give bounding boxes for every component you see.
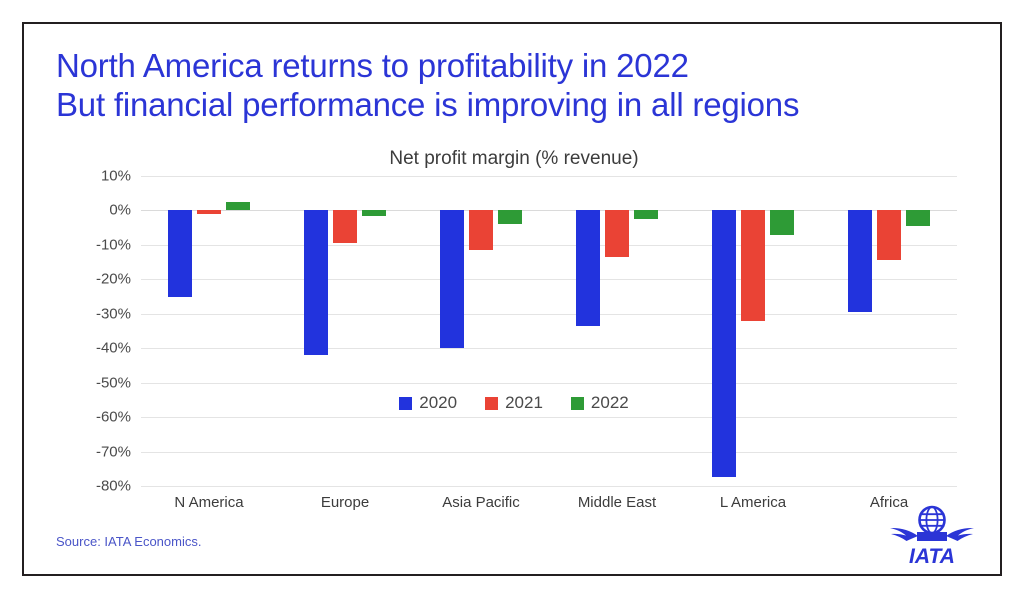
plot-canvas bbox=[141, 176, 957, 486]
bar-2021-asia-pacific[interactable] bbox=[469, 210, 493, 250]
slide-canvas: North America returns to profitability i… bbox=[0, 0, 1024, 598]
y-axis-tick-label: -20% bbox=[96, 271, 131, 288]
x-axis: N AmericaEuropeAsia PacificMiddle EastL … bbox=[141, 494, 957, 511]
y-axis-tick-label: 0% bbox=[109, 202, 131, 219]
legend-label: 2021 bbox=[505, 393, 543, 413]
bar-2022-n-america[interactable] bbox=[226, 202, 250, 211]
bar-2020-europe[interactable] bbox=[304, 210, 328, 355]
iata-wordmark: IATA bbox=[909, 545, 955, 568]
bar-2020-africa[interactable] bbox=[848, 210, 872, 312]
legend-swatch-icon bbox=[485, 397, 498, 410]
bar-2021-africa[interactable] bbox=[877, 210, 901, 260]
y-axis-tick-label: -30% bbox=[96, 305, 131, 322]
bar-2020-n-america[interactable] bbox=[168, 210, 192, 296]
chart-legend: 202020212022 bbox=[24, 393, 1004, 413]
bar-group bbox=[413, 176, 549, 486]
x-axis-label: Asia Pacific bbox=[413, 494, 549, 511]
bar-2020-asia-pacific[interactable] bbox=[440, 210, 464, 348]
x-axis-label: Middle East bbox=[549, 494, 685, 511]
y-axis-tick-label: 10% bbox=[101, 168, 131, 185]
legend-swatch-icon bbox=[399, 397, 412, 410]
bar-group bbox=[277, 176, 413, 486]
bar-group bbox=[685, 176, 821, 486]
slide-frame: North America returns to profitability i… bbox=[22, 22, 1002, 576]
legend-item-2020[interactable]: 2020 bbox=[399, 393, 457, 413]
y-axis-tick-label: -70% bbox=[96, 443, 131, 460]
legend-item-2022[interactable]: 2022 bbox=[571, 393, 629, 413]
slide-title-line-2: But financial performance is improving i… bbox=[56, 85, 976, 124]
y-axis-tick-label: -10% bbox=[96, 236, 131, 253]
bar-group bbox=[821, 176, 957, 486]
source-note: Source: IATA Economics. bbox=[56, 534, 201, 549]
bar-2021-europe[interactable] bbox=[333, 210, 357, 243]
legend-swatch-icon bbox=[571, 397, 584, 410]
y-axis-tick-label: -40% bbox=[96, 340, 131, 357]
bar-2021-l-america[interactable] bbox=[741, 210, 765, 320]
bar-group bbox=[141, 176, 277, 486]
legend-item-2021[interactable]: 2021 bbox=[485, 393, 543, 413]
iata-logo: IATA bbox=[884, 502, 980, 568]
bar-group bbox=[549, 176, 685, 486]
slide-title-line-1: North America returns to profitability i… bbox=[56, 46, 976, 85]
y-axis: 10%0%-10%-20%-30%-40%-50%-60%-70%-80% bbox=[79, 176, 137, 486]
y-axis-tick-label: -50% bbox=[96, 374, 131, 391]
x-axis-label: L America bbox=[685, 494, 821, 511]
chart-title: Net profit margin (% revenue) bbox=[24, 148, 1004, 170]
bar-2022-africa[interactable] bbox=[906, 210, 930, 226]
legend-label: 2020 bbox=[419, 393, 457, 413]
bar-2020-middle-east[interactable] bbox=[576, 210, 600, 325]
legend-label: 2022 bbox=[591, 393, 629, 413]
chart-plot-area: 10%0%-10%-20%-30%-40%-50%-60%-70%-80% bbox=[79, 176, 957, 486]
y-axis-tick-label: -80% bbox=[96, 478, 131, 495]
bar-2022-l-america[interactable] bbox=[770, 210, 794, 234]
title-block: North America returns to profitability i… bbox=[56, 46, 976, 124]
bar-2022-asia-pacific[interactable] bbox=[498, 210, 522, 224]
bar-2021-middle-east[interactable] bbox=[605, 210, 629, 257]
gridline bbox=[141, 486, 957, 487]
bar-2020-l-america[interactable] bbox=[712, 210, 736, 477]
bar-2021-n-america[interactable] bbox=[197, 210, 221, 213]
bar-2022-middle-east[interactable] bbox=[634, 210, 658, 219]
bar-2022-europe[interactable] bbox=[362, 210, 386, 215]
x-axis-label: Europe bbox=[277, 494, 413, 511]
x-axis-label: N America bbox=[141, 494, 277, 511]
bar-groups bbox=[141, 176, 957, 486]
